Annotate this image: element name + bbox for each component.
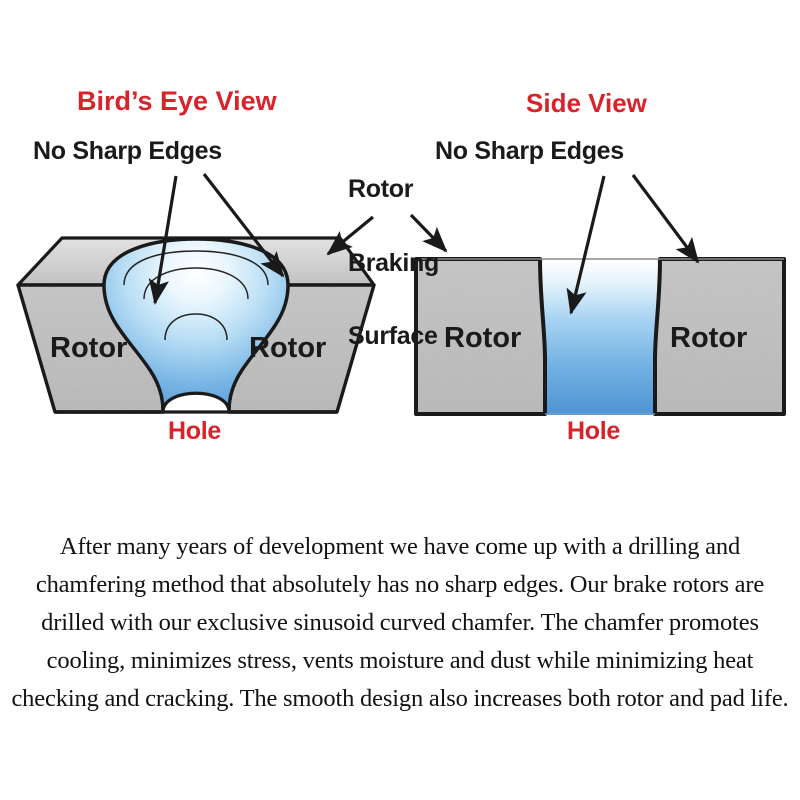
hole-label-left: Hole <box>168 419 221 445</box>
rotor-body-label-right-2: Rotor <box>670 322 747 355</box>
diagram-page: Bird’s Eye View Side View No Sharp Edges… <box>0 0 800 800</box>
no-sharp-edges-label-right: No Sharp Edges <box>435 139 624 165</box>
rotor-body-label-left-2: Rotor <box>249 332 326 365</box>
rotor-braking-surface-line-2: Braking <box>348 251 439 276</box>
rotor-braking-surface-line-3: Surface <box>348 324 439 349</box>
rotor-body-label-left-1: Rotor <box>50 332 127 365</box>
birds-eye-view-title: Bird’s Eye View <box>77 88 277 116</box>
rotor-braking-surface-label: Rotor Braking Surface <box>348 128 439 398</box>
birds-eye-view-block <box>18 238 374 412</box>
rotor-braking-surface-line-1: Rotor <box>348 177 439 202</box>
hole-label-right: Hole <box>567 419 620 445</box>
rotor-body-label-right-1: Rotor <box>444 322 521 355</box>
side-view-title: Side View <box>526 90 647 117</box>
no-sharp-edges-label-left: No Sharp Edges <box>33 139 222 165</box>
no-sharp-edges-arrow-right-side <box>633 175 698 262</box>
description-paragraph: After many years of development we have … <box>8 528 792 718</box>
